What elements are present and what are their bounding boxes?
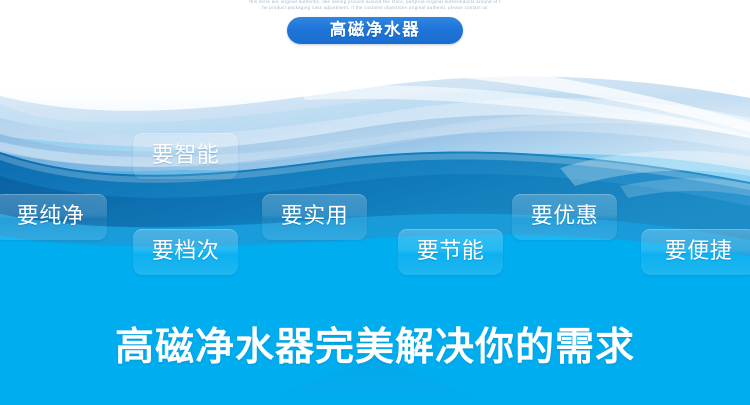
feature-tag-label: 要智能 <box>152 145 220 167</box>
feature-tag-pure[interactable]: 要纯净 <box>0 194 107 240</box>
feature-tag-label: 要节能 <box>417 241 485 263</box>
feature-tag-label: 要纯净 <box>17 206 85 228</box>
banner-headline: 高磁净水器完美解决你的需求 <box>0 322 750 374</box>
feature-tag-label: 要实用 <box>281 206 349 228</box>
product-title-text: 高磁净水器 <box>330 22 421 39</box>
feature-tag-smart[interactable]: 要智能 <box>133 133 238 179</box>
feature-tag-energy-saving[interactable]: 要节能 <box>398 229 503 275</box>
promo-banner: this store are original authentic, like … <box>0 0 750 405</box>
feature-tag-discount[interactable]: 要优惠 <box>512 194 617 240</box>
feature-tag-label: 要优惠 <box>531 206 599 228</box>
fineprint-line-2: he product packaging cass adjustment. if… <box>0 5 750 11</box>
product-title-pill: 高磁净水器 <box>287 17 463 44</box>
feature-tag-practical[interactable]: 要实用 <box>262 194 367 240</box>
feature-tag-label: 要档次 <box>152 241 220 263</box>
feature-tag-label: 要便捷 <box>665 241 733 263</box>
feature-tag-convenient[interactable]: 要便捷 <box>641 229 750 275</box>
feature-tag-grade[interactable]: 要档次 <box>133 229 238 275</box>
fineprint-disclaimer: this store are original authentic, like … <box>0 0 750 11</box>
